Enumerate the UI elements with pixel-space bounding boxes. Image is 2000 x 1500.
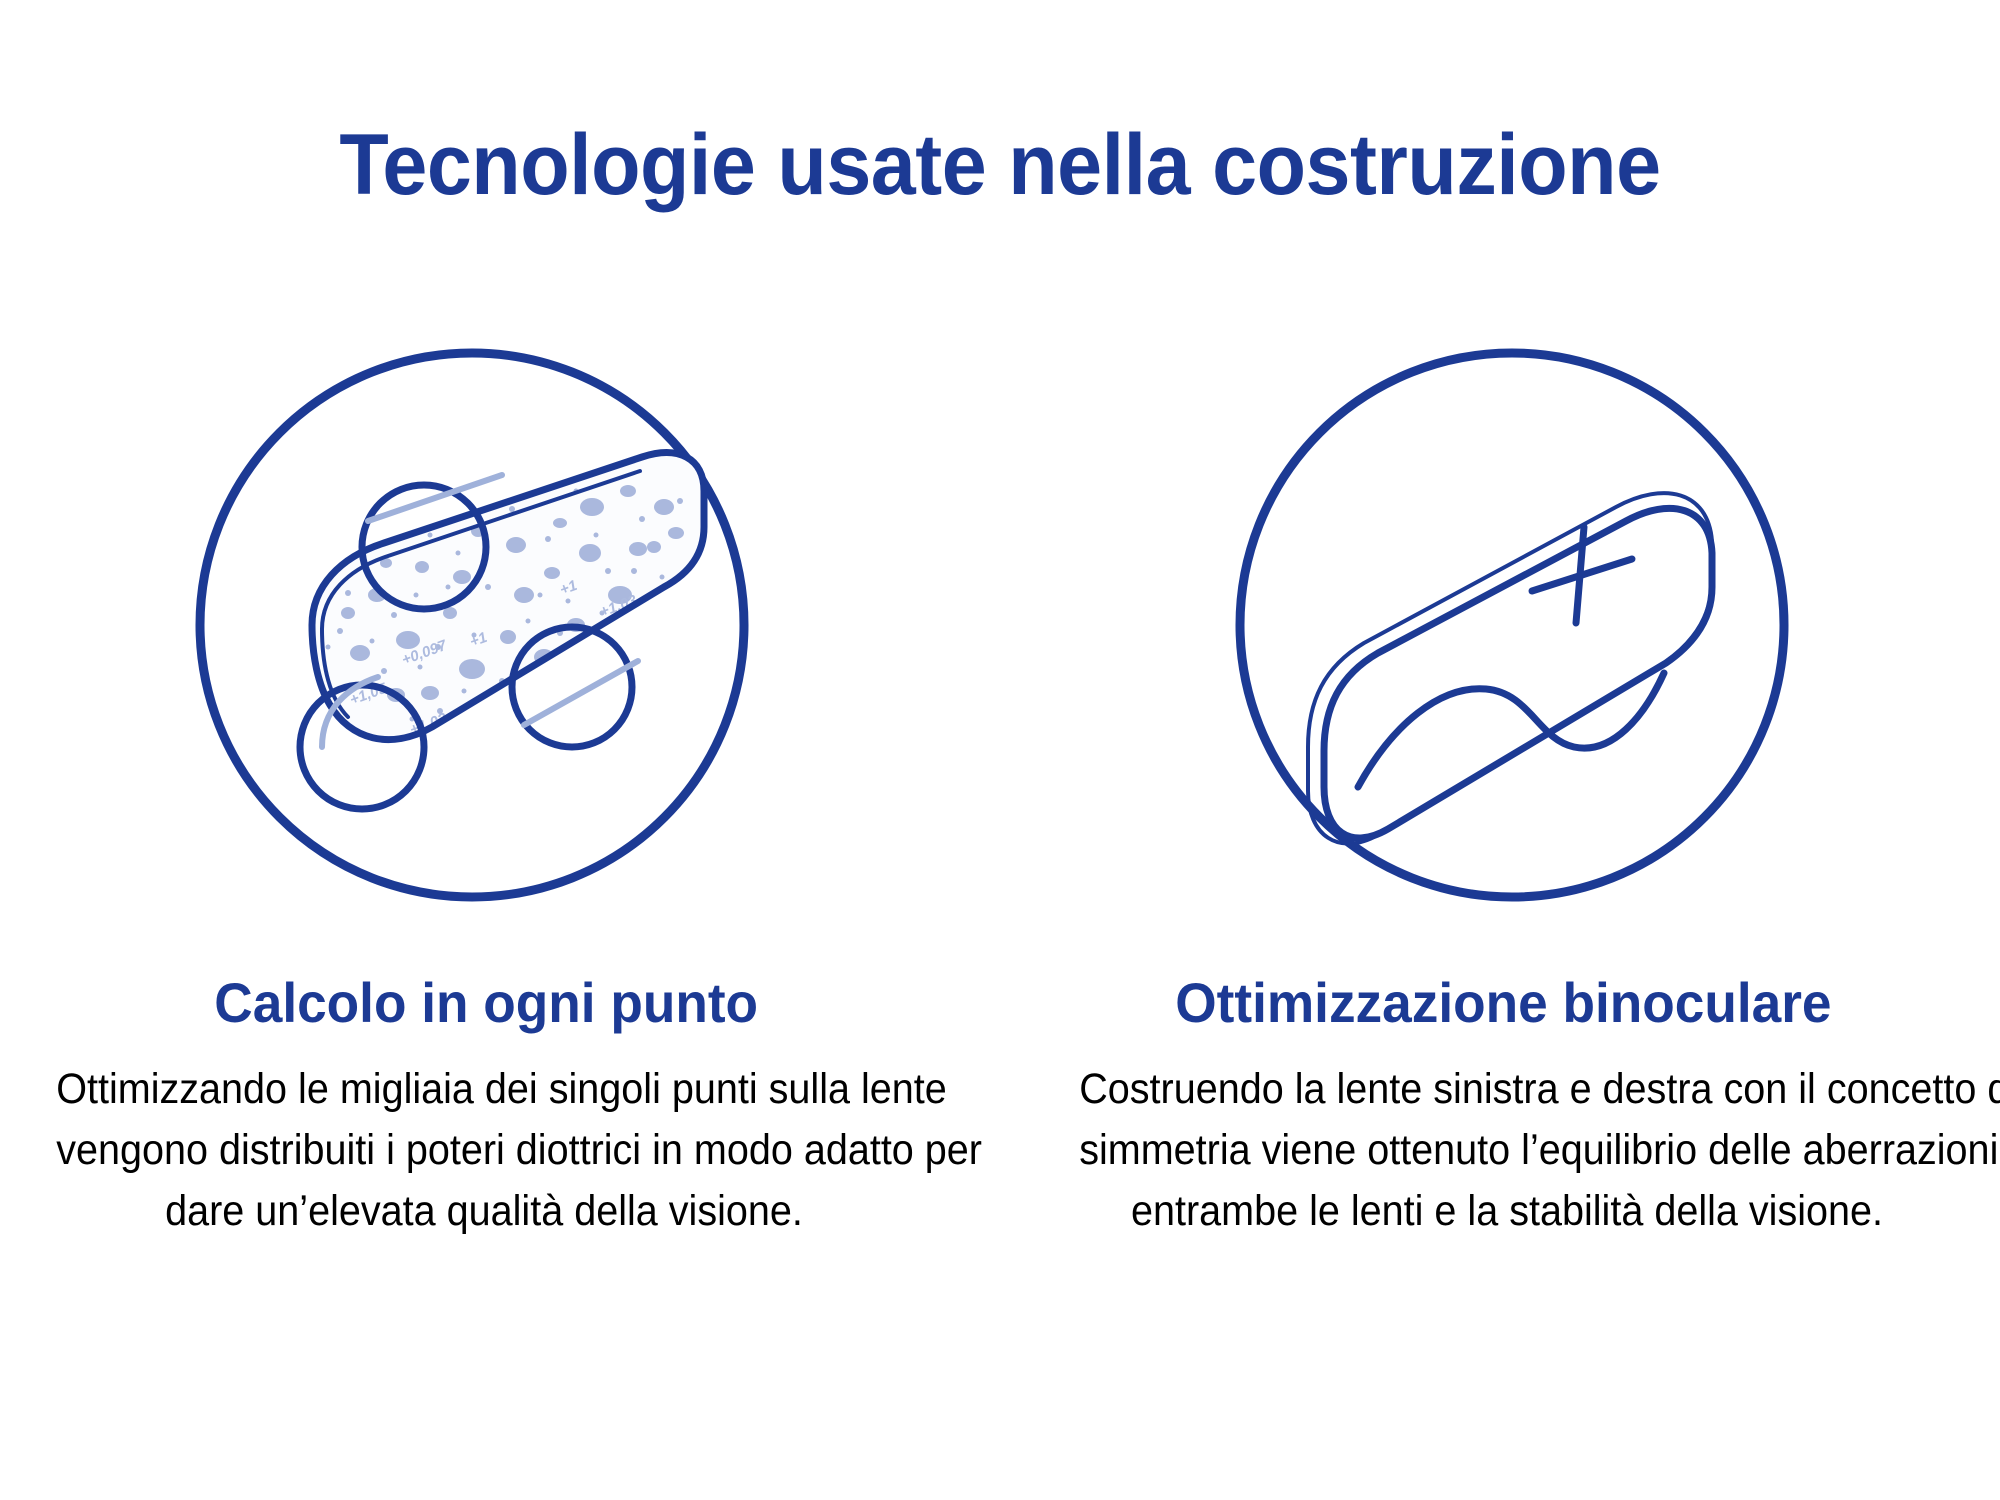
body-line: Ottimizzando le migliaia dei singoli pun… xyxy=(56,1059,912,1120)
body-line: Costruendo la lente sinistra e destra co… xyxy=(1079,1059,1935,1120)
body-line: vengono distribuiti i poteri diottrici i… xyxy=(56,1120,912,1181)
body-line: entrambe le lenti e la stabilità della v… xyxy=(1079,1181,1935,1242)
lens-point-by-point-calculation-icon: +0,097 +1 +1,03 +1,05 +0,9 +1,03 +1 xyxy=(172,280,772,970)
eyeglass-lens-shape xyxy=(1308,493,1712,844)
columns-container: +0,097 +1 +1,03 +1,05 +0,9 +1,03 +1 xyxy=(0,280,2000,1242)
column-ottimizzazione-binoculare: Ottimizzazione binoculare Costruendo la … xyxy=(1000,280,2000,1242)
column-heading: Ottimizzazione binoculare xyxy=(1175,974,1831,1033)
body-line: simmetria viene ottenuto l’equilibrio de… xyxy=(1079,1120,1935,1181)
column-body-text: Costruendo la lente sinistra e destra co… xyxy=(1079,1059,1935,1242)
slide-root: Tecnologie usate nella costruzione xyxy=(0,0,2000,1500)
column-calcolo-in-ogni-punto: +0,097 +1 +1,03 +1,05 +0,9 +1,03 +1 xyxy=(0,280,1000,1242)
lens-shape: +0,097 +1 +1,03 +1,05 +0,9 +1,03 +1 xyxy=(312,453,704,740)
lens-binocular-optimization-icon xyxy=(1212,280,1812,970)
body-line: dare un’elevata qualità della visione. xyxy=(56,1181,912,1242)
plus-symbol xyxy=(1532,527,1632,623)
column-heading: Calcolo in ogni punto xyxy=(214,974,758,1033)
column-body-text: Ottimizzando le migliaia dei singoli pun… xyxy=(56,1059,912,1242)
page-title: Tecnologie usate nella costruzione xyxy=(60,122,1940,210)
